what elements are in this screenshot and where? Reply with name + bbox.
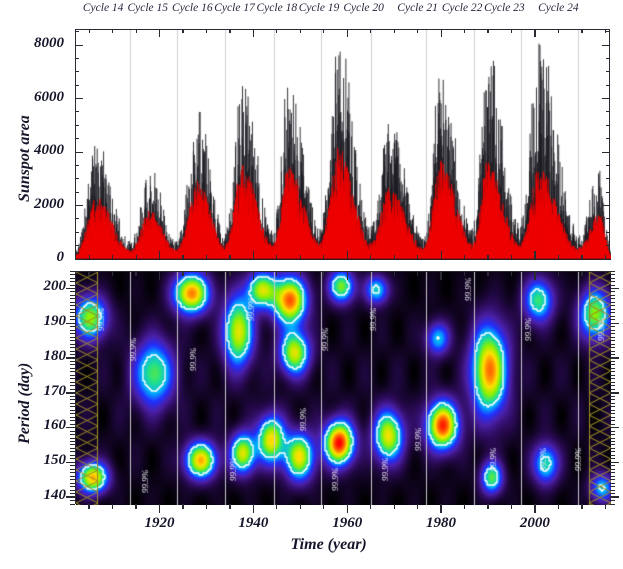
bot-x-tick — [581, 271, 582, 276]
top-y-tick-major — [602, 98, 610, 99]
top-x-tick — [581, 255, 582, 259]
sunspot-area-plot — [76, 30, 611, 260]
top-y-tick-minor — [606, 58, 610, 59]
bot-x-tick — [112, 271, 113, 276]
bot-y-tick-minor — [70, 438, 75, 439]
bot-y-tick-minor — [70, 326, 75, 327]
top-y-tick-minor — [75, 31, 79, 32]
cycle-label-cycle-22: Cycle 22 — [442, 2, 483, 14]
bot-y-tick-minor — [70, 309, 75, 310]
bot-y-tick-minor — [70, 298, 75, 299]
top-x-tick — [229, 29, 230, 33]
bot-y-tick-minor — [70, 330, 75, 331]
bot-x-tick-label-1940: 1940 — [219, 515, 287, 532]
top-x-tick — [487, 29, 488, 33]
bot-y-tick-minor — [70, 483, 75, 484]
bot-y-tick-minor — [610, 330, 615, 331]
top-y-tick-minor — [75, 138, 79, 139]
bot-x-tick — [229, 504, 230, 509]
bot-y-tick-minor — [70, 469, 75, 470]
bot-y-tick-minor — [610, 486, 615, 487]
bot-y-tick-minor — [70, 364, 75, 365]
top-x-tick — [511, 29, 512, 33]
cycle-label-cycle-16: Cycle 16 — [172, 2, 213, 14]
top-x-tick — [323, 29, 324, 33]
bot-y-tick-minor — [70, 351, 75, 352]
bot-y-tick-minor — [610, 309, 615, 310]
top-x-tick — [511, 255, 512, 259]
top-x-tick — [182, 255, 183, 259]
bot-y-tick-minor — [610, 504, 615, 505]
bot-y-tick-minor — [70, 458, 75, 459]
bot-y-tick-minor — [70, 500, 75, 501]
bot-y-tick-major — [66, 496, 75, 498]
bot-y-tick-minor — [70, 451, 75, 452]
bot-y-tick-minor — [70, 333, 75, 334]
bot-y-tick-minor — [70, 347, 75, 348]
bot-y-tick-minor — [70, 399, 75, 400]
bot-y-tick-minor — [610, 316, 615, 317]
top-x-tick — [159, 251, 160, 259]
bot-y-tick-minor — [610, 424, 615, 425]
bot-x-tick — [394, 271, 395, 276]
bot-y-tick-minor — [610, 396, 615, 397]
top-y-tick-minor — [606, 245, 610, 246]
top-x-tick — [206, 255, 207, 259]
wavelet-power-panel — [75, 271, 610, 504]
top-y-tick-label-0: 0 — [0, 249, 64, 266]
bot-y-tick-minor — [70, 406, 75, 407]
bot-y-tick-minor — [610, 490, 615, 491]
bottom-panel-y-axis-title: Period (day) — [16, 362, 34, 443]
top-y-tick-major — [75, 45, 83, 46]
bot-y-tick-label-200: 200 — [0, 278, 66, 295]
bot-y-tick-minor — [610, 434, 615, 435]
bot-x-tick-label-2000: 2000 — [501, 515, 569, 532]
bot-x-tick — [464, 504, 465, 509]
top-y-tick-major — [75, 205, 83, 206]
bot-y-tick-minor — [610, 476, 615, 477]
bot-y-tick-minor — [70, 278, 75, 279]
bot-x-tick — [112, 504, 113, 509]
cycle-label-cycle-20: Cycle 20 — [343, 2, 384, 14]
bot-y-tick-minor — [610, 472, 615, 473]
top-y-tick-minor — [75, 165, 79, 166]
bot-y-tick-minor — [610, 298, 615, 299]
bot-y-tick-minor — [70, 504, 75, 505]
top-x-tick — [534, 251, 535, 259]
top-x-tick — [253, 251, 254, 259]
bot-y-tick-major — [66, 323, 75, 325]
bot-y-tick-major — [610, 323, 619, 325]
bot-x-tick — [440, 504, 441, 513]
bot-y-tick-minor — [70, 382, 75, 383]
top-y-tick-minor — [606, 232, 610, 233]
bot-x-tick — [487, 504, 488, 509]
bot-y-tick-minor — [610, 326, 615, 327]
cycle-label-cycle-18: Cycle 18 — [257, 2, 298, 14]
cycle-label-cycle-23: Cycle 23 — [484, 2, 525, 14]
top-x-tick — [487, 255, 488, 259]
bot-y-tick-minor — [70, 455, 75, 456]
bot-y-tick-minor — [610, 274, 615, 275]
bot-y-tick-minor — [70, 444, 75, 445]
bot-x-tick — [253, 504, 254, 513]
bot-y-tick-minor — [70, 479, 75, 480]
bot-y-tick-minor — [70, 413, 75, 414]
bot-y-tick-minor — [610, 469, 615, 470]
bot-x-tick — [605, 504, 606, 509]
top-x-tick — [347, 251, 348, 259]
top-x-tick — [605, 255, 606, 259]
top-y-tick-minor — [75, 85, 79, 86]
top-y-tick-major — [602, 259, 610, 260]
top-y-tick-minor — [75, 125, 79, 126]
top-y-tick-minor — [75, 245, 79, 246]
bot-y-tick-minor — [70, 396, 75, 397]
bot-y-tick-major — [610, 357, 619, 359]
x-axis-title: Time (year) — [291, 536, 367, 554]
top-x-tick — [206, 29, 207, 33]
bot-y-tick-minor — [70, 378, 75, 379]
bot-x-tick — [464, 271, 465, 276]
bot-y-tick-minor — [610, 281, 615, 282]
bot-y-tick-minor — [70, 424, 75, 425]
top-x-tick — [112, 255, 113, 259]
bot-y-tick-minor — [610, 354, 615, 355]
top-x-tick — [370, 29, 371, 33]
bot-y-tick-major — [610, 427, 619, 429]
top-x-tick — [464, 255, 465, 259]
bot-y-tick-minor — [70, 291, 75, 292]
top-y-tick-minor — [75, 218, 79, 219]
bot-y-tick-minor — [70, 434, 75, 435]
top-x-tick — [276, 29, 277, 33]
bot-y-tick-minor — [610, 295, 615, 296]
sunspot-area-panel — [75, 29, 610, 259]
bot-x-tick — [88, 271, 89, 276]
bot-x-tick — [558, 271, 559, 276]
cycle-label-cycle-17: Cycle 17 — [214, 2, 255, 14]
top-x-tick — [112, 29, 113, 33]
top-x-tick — [581, 29, 582, 33]
bot-y-tick-major — [66, 427, 75, 429]
bot-y-tick-minor — [70, 354, 75, 355]
bot-y-tick-minor — [70, 441, 75, 442]
top-y-tick-minor — [606, 165, 610, 166]
bot-x-tick — [440, 271, 441, 280]
bot-y-tick-minor — [70, 493, 75, 494]
bot-y-tick-major — [610, 288, 619, 290]
bot-y-tick-major — [66, 392, 75, 394]
bot-y-tick-minor — [610, 399, 615, 400]
wavelet-heatmap — [76, 272, 611, 505]
top-x-tick — [276, 255, 277, 259]
bot-x-tick — [182, 504, 183, 509]
bot-x-tick — [511, 504, 512, 509]
top-x-tick — [558, 255, 559, 259]
bot-x-tick — [88, 504, 89, 509]
bot-x-tick — [487, 271, 488, 276]
bot-x-tick — [417, 271, 418, 276]
bot-y-tick-major — [66, 357, 75, 359]
top-x-tick — [464, 29, 465, 33]
cycle-label-cycle-14: Cycle 14 — [83, 2, 124, 14]
top-x-tick — [370, 255, 371, 259]
bot-y-tick-minor — [70, 410, 75, 411]
bot-y-tick-minor — [610, 368, 615, 369]
top-x-tick — [347, 29, 348, 37]
bot-x-tick — [511, 271, 512, 276]
bot-y-tick-minor — [610, 319, 615, 320]
bot-x-tick — [253, 271, 254, 280]
top-y-tick-minor — [606, 31, 610, 32]
bot-y-tick-minor — [70, 361, 75, 362]
bot-y-tick-minor — [610, 451, 615, 452]
bot-x-tick — [605, 271, 606, 276]
bot-y-tick-minor — [70, 337, 75, 338]
top-y-tick-minor — [606, 218, 610, 219]
top-y-tick-minor — [606, 178, 610, 179]
top-x-tick — [253, 29, 254, 37]
top-x-tick — [441, 29, 442, 37]
bot-y-tick-minor — [610, 361, 615, 362]
bot-y-tick-minor — [70, 371, 75, 372]
bot-y-tick-minor — [610, 305, 615, 306]
top-y-tick-minor — [606, 111, 610, 112]
bot-y-tick-minor — [610, 347, 615, 348]
bot-y-tick-minor — [610, 385, 615, 386]
bot-x-tick — [159, 504, 160, 513]
bot-y-tick-major — [66, 462, 75, 464]
bot-x-tick — [347, 271, 348, 280]
bot-y-tick-minor — [70, 285, 75, 286]
top-y-tick-minor — [606, 71, 610, 72]
bot-x-tick — [159, 271, 160, 280]
top-x-tick — [89, 29, 90, 33]
bot-y-tick-minor — [70, 344, 75, 345]
bot-y-tick-minor — [610, 340, 615, 341]
bot-y-tick-minor — [70, 465, 75, 466]
top-x-tick — [605, 29, 606, 33]
bot-y-tick-minor — [610, 371, 615, 372]
top-x-tick — [534, 29, 535, 37]
bot-y-tick-minor — [610, 382, 615, 383]
bot-y-tick-minor — [610, 420, 615, 421]
cycle-label-cycle-24: Cycle 24 — [538, 2, 579, 14]
bot-y-tick-minor — [70, 319, 75, 320]
bot-y-tick-major — [610, 496, 619, 498]
bot-y-tick-minor — [70, 312, 75, 313]
bot-y-tick-minor — [70, 476, 75, 477]
bot-x-tick — [394, 504, 395, 509]
bot-y-tick-minor — [70, 486, 75, 487]
bot-y-tick-minor — [70, 368, 75, 369]
bot-y-tick-minor — [70, 340, 75, 341]
top-y-tick-minor — [75, 58, 79, 59]
bot-x-tick — [534, 271, 535, 280]
bot-x-tick — [276, 271, 277, 276]
top-y-tick-major — [602, 45, 610, 46]
top-y-tick-minor — [75, 71, 79, 72]
top-y-tick-minor — [606, 125, 610, 126]
top-x-tick — [323, 255, 324, 259]
bot-y-tick-minor — [610, 458, 615, 459]
bot-y-tick-minor — [610, 389, 615, 390]
bot-x-tick — [206, 271, 207, 276]
bot-y-tick-minor — [610, 403, 615, 404]
top-x-tick — [417, 29, 418, 33]
bot-y-tick-minor — [610, 302, 615, 303]
bot-y-tick-minor — [610, 406, 615, 407]
top-y-tick-minor — [75, 178, 79, 179]
bot-y-tick-minor — [70, 271, 75, 272]
bot-y-tick-minor — [610, 285, 615, 286]
bot-x-tick-label-1960: 1960 — [313, 515, 381, 532]
bot-y-tick-minor — [610, 444, 615, 445]
bot-y-tick-minor — [610, 438, 615, 439]
bot-x-tick — [581, 504, 582, 509]
bot-y-tick-minor — [610, 413, 615, 414]
bot-x-tick — [276, 504, 277, 509]
top-x-tick — [182, 29, 183, 33]
bot-y-tick-minor — [610, 333, 615, 334]
bot-y-tick-minor — [610, 278, 615, 279]
top-x-tick — [136, 29, 137, 33]
bot-y-tick-minor — [70, 431, 75, 432]
top-x-tick — [558, 29, 559, 33]
top-x-tick — [136, 255, 137, 259]
bot-y-tick-minor — [610, 351, 615, 352]
bot-y-tick-minor — [610, 455, 615, 456]
bot-y-tick-minor — [70, 472, 75, 473]
bot-y-tick-minor — [70, 420, 75, 421]
bot-x-tick — [135, 271, 136, 276]
top-x-tick — [441, 251, 442, 259]
bot-y-tick-minor — [610, 465, 615, 466]
top-x-tick — [300, 255, 301, 259]
bot-y-tick-minor — [610, 344, 615, 345]
top-x-tick — [229, 255, 230, 259]
top-y-tick-major — [75, 259, 83, 260]
top-y-tick-minor — [606, 192, 610, 193]
bot-y-tick-minor — [610, 375, 615, 376]
top-x-tick — [89, 255, 90, 259]
bot-y-tick-minor — [610, 312, 615, 313]
top-x-tick — [417, 255, 418, 259]
bot-x-tick — [182, 271, 183, 276]
bot-x-tick — [206, 504, 207, 509]
bot-y-tick-minor — [70, 305, 75, 306]
bot-y-tick-major — [610, 392, 619, 394]
bot-y-tick-minor — [70, 417, 75, 418]
top-y-tick-major — [75, 152, 83, 153]
bot-y-tick-label-140: 140 — [0, 487, 66, 504]
top-y-tick-label-8000: 8000 — [0, 35, 64, 52]
bot-x-tick — [370, 271, 371, 276]
bot-y-tick-minor — [610, 483, 615, 484]
bot-y-tick-minor — [70, 385, 75, 386]
bot-y-tick-minor — [610, 417, 615, 418]
top-x-tick — [300, 29, 301, 33]
bot-y-tick-minor — [70, 281, 75, 282]
bot-y-tick-minor — [610, 378, 615, 379]
bot-x-tick — [300, 504, 301, 509]
top-y-tick-minor — [75, 111, 79, 112]
bot-x-tick — [417, 504, 418, 509]
top-y-tick-minor — [606, 85, 610, 86]
top-y-tick-minor — [75, 232, 79, 233]
cycle-label-cycle-21: Cycle 21 — [397, 2, 438, 14]
cycle-label-cycle-19: Cycle 19 — [299, 2, 340, 14]
bot-y-tick-minor — [70, 389, 75, 390]
bot-x-tick — [300, 271, 301, 276]
bot-x-tick — [558, 504, 559, 509]
bot-x-tick — [323, 504, 324, 509]
bot-y-tick-minor — [610, 337, 615, 338]
bot-y-tick-label-150: 150 — [0, 452, 66, 469]
bot-x-tick — [534, 504, 535, 513]
bot-x-tick-label-1920: 1920 — [125, 515, 193, 532]
bot-y-tick-major — [66, 288, 75, 290]
bot-x-tick — [323, 271, 324, 276]
top-y-tick-major — [602, 152, 610, 153]
bot-y-tick-minor — [610, 410, 615, 411]
bot-y-tick-minor — [70, 274, 75, 275]
bot-y-tick-minor — [70, 295, 75, 296]
top-y-tick-minor — [75, 192, 79, 193]
bot-y-tick-minor — [610, 271, 615, 272]
bot-y-tick-minor — [610, 500, 615, 501]
bot-x-tick-label-1980: 1980 — [407, 515, 475, 532]
top-y-tick-major — [75, 98, 83, 99]
top-y-tick-major — [602, 205, 610, 206]
bot-y-tick-label-190: 190 — [0, 313, 66, 330]
bot-y-tick-minor — [70, 316, 75, 317]
bot-y-tick-minor — [70, 448, 75, 449]
bot-y-tick-minor — [70, 375, 75, 376]
bot-y-tick-minor — [610, 364, 615, 365]
bot-y-tick-minor — [610, 431, 615, 432]
bot-y-tick-minor — [70, 302, 75, 303]
top-x-tick — [159, 29, 160, 37]
bot-x-tick — [229, 271, 230, 276]
top-x-tick — [394, 255, 395, 259]
top-panel-y-axis-title: Sunspot area — [16, 115, 34, 202]
top-y-tick-label-6000: 6000 — [0, 89, 64, 106]
top-x-tick — [394, 29, 395, 33]
bot-y-tick-minor — [610, 441, 615, 442]
bot-x-tick — [347, 504, 348, 513]
bot-y-tick-minor — [610, 448, 615, 449]
cycle-label-cycle-15: Cycle 15 — [127, 2, 168, 14]
bot-y-tick-minor — [610, 493, 615, 494]
bot-y-tick-minor — [70, 403, 75, 404]
bot-y-tick-minor — [610, 479, 615, 480]
figure-root: Cycle 14Cycle 15Cycle 16Cycle 17Cycle 18… — [0, 0, 623, 569]
bot-y-tick-minor — [610, 291, 615, 292]
top-y-tick-minor — [606, 138, 610, 139]
bot-y-tick-minor — [70, 490, 75, 491]
bot-x-tick — [370, 504, 371, 509]
bot-y-tick-major — [610, 462, 619, 464]
bot-x-tick — [135, 504, 136, 509]
